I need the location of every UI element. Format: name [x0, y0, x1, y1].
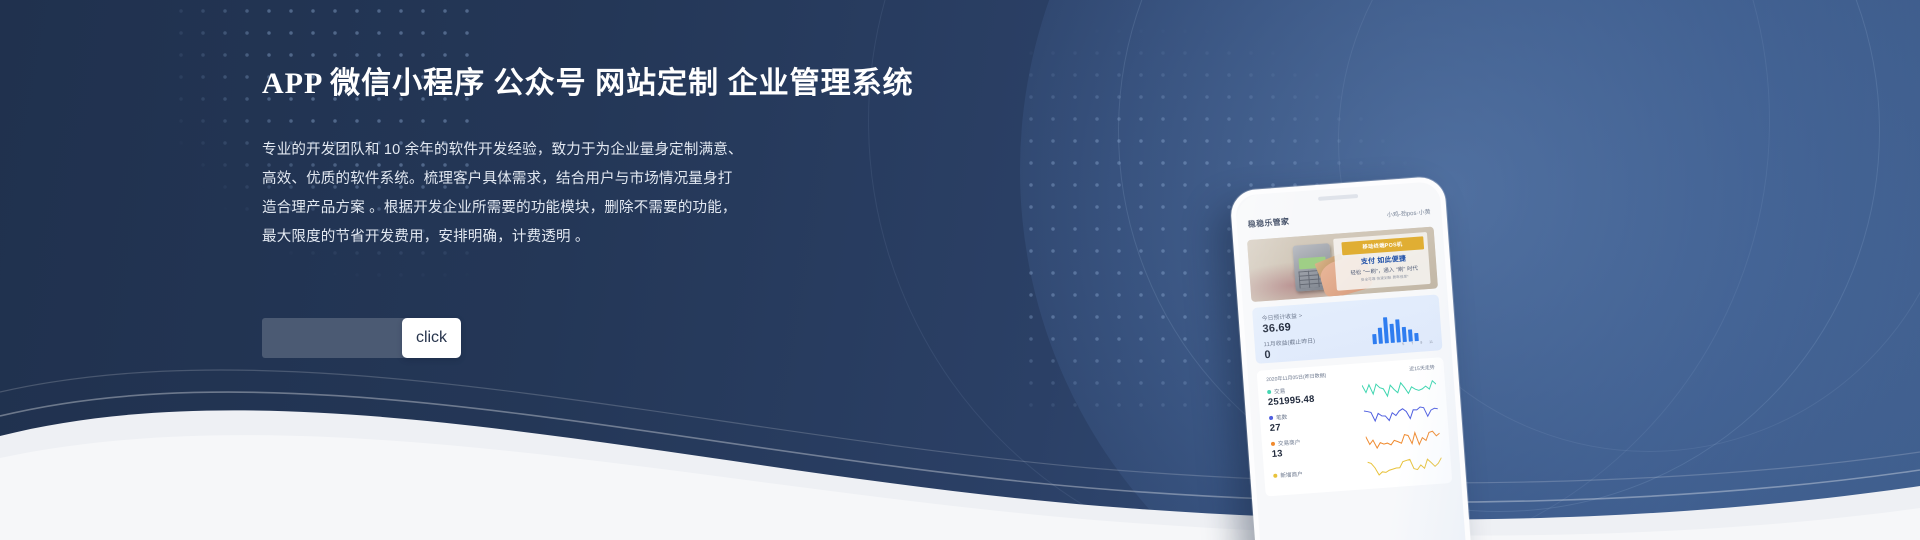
list-item-text: 新增商户 — [1273, 469, 1303, 480]
page-title: APP 微信小程序 公众号 网站定制 企业管理系统 — [262, 58, 1022, 102]
bar — [1378, 327, 1384, 343]
list-item-key-label: 笔数 — [1276, 413, 1288, 422]
status-dot-icon — [1267, 390, 1271, 394]
hero-copy: APP 微信小程序 公众号 网站定制 企业管理系统 专业的开发团队和 10 余年… — [262, 58, 1022, 252]
list-item-text: 交易商户13 — [1271, 438, 1302, 460]
app-promo-banner[interactable]: 移动终端POS机 支付 如此便捷 轻松 "一刷"，通入 "刷" 时代 安全可靠 … — [1247, 227, 1438, 303]
bar — [1402, 327, 1407, 342]
list-item-key-label: 新增商户 — [1280, 469, 1303, 479]
list-item-key: 笔数 — [1269, 413, 1288, 422]
hero-banner: APP 微信小程序 公众号 网站定制 企业管理系统 专业的开发团队和 10 余年… — [0, 0, 1920, 540]
hero-paragraph: 专业的开发团队和 10 余年的软件开发经验，致力于为企业量身定制满意、 高效、优… — [262, 136, 1022, 252]
list-rows: 交易251995.48笔数27交易商户13新增商户 — [1267, 376, 1443, 486]
bar — [1408, 329, 1413, 341]
click-button[interactable]: click — [402, 318, 461, 358]
bar-axis-tick: 9 — [1420, 341, 1422, 345]
list-item-value: 27 — [1269, 422, 1288, 434]
phone-body: 稳稳乐管家 小鸡-劲pos·小黄 移动终端POS机 支付 如此便捷 轻松 "一刷… — [1229, 176, 1471, 540]
bar-axis-tick: 7 — [1411, 341, 1413, 345]
earnings-card[interactable]: 今日预计收益 > 36.69 11月收益(截止昨日) 0 57911 — [1252, 294, 1443, 364]
paragraph-line: 专业的开发团队和 10 余年的软件开发经验，致力于为企业量身定制满意、 — [262, 136, 1022, 165]
list-item-value: 251995.48 — [1268, 394, 1315, 408]
status-dot-icon — [1269, 416, 1273, 420]
list-item-key-label: 交易 — [1274, 387, 1286, 396]
phone-mockup: 稳稳乐管家 小鸡-劲pos·小黄 移动终端POS机 支付 如此便捷 轻松 "一刷… — [1229, 176, 1471, 540]
sparkline — [1367, 454, 1442, 479]
bar-axis-tick: 11 — [1429, 340, 1433, 344]
status-dot-icon — [1273, 473, 1277, 477]
paragraph-line: 最大限度的节省开发费用，安排明确，计费透明 。 — [262, 223, 1022, 252]
cta-group: click — [262, 318, 460, 358]
list-item-text: 交易251995.48 — [1267, 385, 1315, 408]
sparkline — [1365, 428, 1440, 453]
list-item[interactable]: 新增商户 — [1273, 454, 1443, 486]
app-user-label: 小鸡-劲pos·小黄 — [1386, 206, 1430, 218]
phone-speaker-icon — [1318, 194, 1358, 201]
sparkline — [1364, 402, 1439, 427]
bar — [1389, 323, 1395, 343]
paragraph-line: 造合理产品方案 。根据开发企业所需要的功能模块，删除不需要的功能， — [262, 194, 1022, 223]
bar — [1383, 317, 1389, 343]
banner-tag-label: 移动终端POS机 — [1362, 240, 1402, 251]
list-date-label: 2020年11月05日(昨日数据) — [1266, 372, 1327, 383]
bar-axis-tick: 5 — [1402, 342, 1404, 346]
sparkline — [1362, 376, 1437, 401]
bar — [1372, 334, 1377, 345]
list-trend-label: 近15天走势 — [1409, 364, 1435, 373]
app-title: 稳稳乐管家 — [1247, 216, 1289, 230]
list-item-text: 笔数27 — [1269, 413, 1289, 434]
paragraph-line: 高效、优质的软件系统。梳理客户具体需求，结合用户与市场情况量身打 — [262, 165, 1022, 194]
status-dot-icon — [1271, 442, 1275, 446]
bottom-wave-decoration — [0, 240, 1920, 540]
bar — [1395, 319, 1401, 342]
list-item-value: 13 — [1271, 447, 1301, 460]
list-item-key: 新增商户 — [1273, 469, 1303, 479]
daily-data-list: 2020年11月05日(昨日数据) 近15天走势 交易251995.48笔数27… — [1257, 357, 1453, 496]
